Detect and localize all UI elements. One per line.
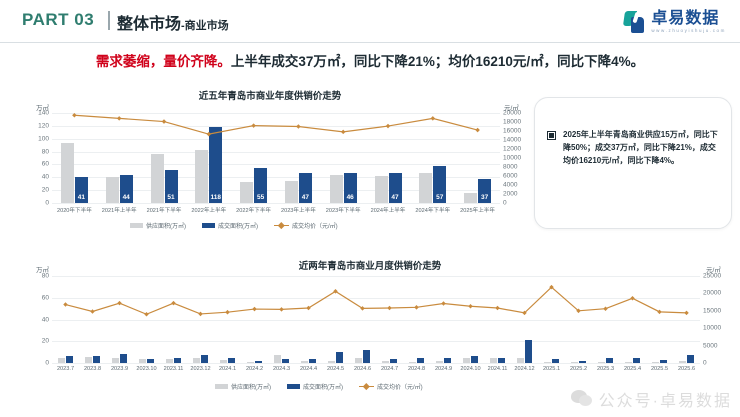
chart-bar: 46 — [344, 173, 357, 203]
bar-value-label: 47 — [302, 194, 309, 201]
x-axis-tick: 2024.4 — [300, 366, 317, 372]
legend-label-supply: 供应面积(万㎡) — [146, 221, 186, 230]
headline-red: 需求萎缩，量价齐降。 — [96, 54, 231, 69]
x-axis-tick: 2025.3 — [597, 366, 614, 372]
x-axis-tick: 2025.4 — [624, 366, 641, 372]
chart-bar — [471, 356, 478, 363]
chart-bar — [174, 358, 181, 363]
chart-bar — [106, 177, 119, 203]
chart-bar — [166, 359, 173, 363]
x-axis-tick: 2025.1 — [543, 366, 560, 372]
chart-bar — [93, 356, 100, 363]
gridline — [52, 320, 700, 321]
chart-bar — [517, 358, 524, 363]
y-axis-tick: 80 — [42, 148, 49, 155]
headline-rest: 上半年成交37万㎡，同比下降21%；均价16210元/㎡，同比下降4%。 — [231, 54, 644, 69]
headline: 需求萎缩，量价齐降。上半年成交37万㎡，同比下降21%；均价16210元/㎡，同… — [0, 50, 740, 70]
watermark: 公众号·卓易数据 — [571, 387, 732, 411]
logo-url: www.zhuoyishuju.com — [651, 29, 726, 34]
watermark-text: 公众号·卓易数据 — [599, 387, 732, 411]
chart-bar — [66, 356, 73, 363]
chart-bar — [274, 355, 281, 363]
legend-label-price: 成交均价（元/㎡) — [292, 221, 338, 230]
chart-bar — [282, 359, 289, 363]
x-axis-tick: 2024.12 — [514, 366, 534, 372]
chart-bar: 41 — [75, 177, 88, 203]
chart-bar — [679, 361, 686, 363]
chart-bar — [409, 362, 416, 363]
chart-bar — [571, 362, 578, 363]
x-axis-tick: 2023年下半年 — [326, 206, 361, 214]
x-axis-tick: 2023.12 — [190, 366, 210, 372]
x-axis-tick: 2024.11 — [488, 366, 508, 372]
chart-bar: 57 — [433, 166, 446, 203]
chart-bar — [419, 173, 432, 203]
x-axis-tick: 2024.1 — [219, 366, 236, 372]
insight-callout-text: 2025年上半年青岛商业供应15万㎡，同比下降50%；成交37万㎡，同比下降21… — [563, 128, 721, 168]
x-axis-tick: 2024.7 — [381, 366, 398, 372]
chart-bar — [193, 358, 200, 363]
x-axis-tick: 2023.10 — [136, 366, 156, 372]
chart-annual-plot: 0204060801001201400200040006000800010000… — [52, 113, 500, 203]
chart-bar — [652, 362, 659, 363]
chart-bar — [139, 359, 146, 363]
bar-value-label: 46 — [347, 194, 354, 201]
x-axis-tick: 2024.3 — [273, 366, 290, 372]
chart-bar — [255, 361, 262, 363]
chart-bar — [444, 358, 451, 363]
y-axis-tick: 100 — [38, 135, 49, 142]
bar-value-label: 47 — [391, 194, 398, 201]
page-title-sub: -商业市场 — [181, 20, 229, 32]
x-axis-tick: 2023.7 — [57, 366, 74, 372]
chart-bar — [464, 193, 477, 203]
chart-monthly-legend: 供应面积(万㎡) 成交面积(万㎡) 成交均价（元/㎡) — [215, 382, 423, 391]
x-axis-tick: 2025.6 — [678, 366, 695, 372]
gridline — [52, 341, 700, 342]
y-axis-right-tick: 20000 — [503, 110, 521, 117]
chart-bar — [330, 175, 343, 203]
chart-bar: 51 — [165, 170, 178, 203]
chart-bar — [61, 143, 74, 203]
chart-bar — [285, 181, 298, 204]
chart-bar — [382, 361, 389, 363]
chart-bar — [328, 361, 335, 363]
y-axis-tick: 60 — [42, 161, 49, 168]
chart-bar — [228, 358, 235, 363]
chart-bar — [112, 358, 119, 363]
chart-bar — [463, 358, 470, 363]
chart-bar: 55 — [254, 168, 267, 203]
chart-monthly: 近两年青岛市商业月度供销价走势 万㎡ 元/㎡ 02040608005000100… — [10, 258, 730, 408]
insight-callout: 2025年上半年青岛商业供应15万㎡，同比下降50%；成交37万㎡，同比下降21… — [534, 97, 732, 229]
x-axis-tick: 2024年下半年 — [415, 206, 450, 214]
gridline — [52, 152, 500, 153]
chart-bar — [390, 359, 397, 363]
page-title: 整体市场-商业市场 — [117, 10, 229, 34]
part-label: PART 03 — [22, 10, 94, 30]
price-line-swatch-icon — [274, 223, 289, 228]
y-axis-right-tick: 10000 — [503, 155, 521, 162]
bar-value-label: 37 — [481, 194, 488, 201]
x-axis-tick: 2021年下半年 — [147, 206, 182, 214]
brand-logo: 卓易数据 www.zhuoyishuju.com — [624, 8, 726, 36]
slide-root: PART 03 整体市场-商业市场 卓易数据 www.zhuoyishuju.c… — [0, 0, 740, 417]
chart-bar — [579, 361, 586, 363]
gridline — [52, 113, 500, 114]
chart-bar — [151, 154, 164, 204]
y-axis-right-tick: 0 — [503, 200, 507, 207]
legend-label-price: 成交均价（元/㎡) — [377, 382, 423, 391]
chart-annual: 近五年青岛市商业年度供销价走势 万㎡ 元/㎡ 02040608010012014… — [10, 88, 530, 238]
y-axis-right-tick: 16000 — [503, 128, 521, 135]
y-axis-right-tick: 6000 — [503, 173, 517, 180]
x-axis-tick: 2025年上半年 — [460, 206, 495, 214]
chart-annual-title: 近五年青岛市商业年度供销价走势 — [10, 88, 530, 102]
chart-bar: 47 — [299, 173, 312, 203]
bar-value-label: 57 — [436, 194, 443, 201]
gridline — [52, 276, 700, 277]
x-axis-tick: 2023.8 — [84, 366, 101, 372]
y-axis-tick: 40 — [42, 316, 49, 323]
legend-label-supply: 供应面积(万㎡) — [231, 382, 271, 391]
chart-bar — [120, 354, 127, 363]
legend-item-deal: 成交面积(万㎡) — [202, 221, 258, 230]
chart-bar — [606, 358, 613, 363]
deal-swatch-icon — [287, 384, 300, 389]
price-line-swatch-icon — [359, 384, 374, 389]
y-axis-right-tick: 12000 — [503, 146, 521, 153]
chart-bar — [417, 358, 424, 363]
chart-bar — [625, 362, 632, 363]
x-axis-tick: 2021年上半年 — [102, 206, 137, 214]
chart-bar — [687, 355, 694, 363]
page-title-main: 整体市场 — [117, 16, 181, 33]
chart-bar — [552, 359, 559, 363]
chart-bar — [147, 359, 154, 363]
x-axis-tick: 2020年下半年 — [57, 206, 92, 214]
chart-bar: 44 — [120, 175, 133, 203]
x-axis-tick: 2022年下半年 — [236, 206, 271, 214]
y-axis-tick: 140 — [38, 110, 49, 117]
chart-bar — [240, 182, 253, 203]
chart-bar — [201, 355, 208, 363]
chart-bar — [375, 176, 388, 203]
supply-swatch-icon — [130, 223, 143, 228]
x-axis-tick: 2022年上半年 — [191, 206, 226, 214]
header-divider — [108, 11, 110, 30]
chart-bar — [195, 150, 208, 203]
chart-bar — [58, 358, 65, 363]
bar-value-label: 44 — [123, 194, 130, 201]
chart-bar — [220, 360, 227, 363]
chart-bar — [525, 340, 532, 363]
y-axis-right-tick: 4000 — [503, 182, 517, 189]
gridline — [52, 298, 700, 299]
y-axis-right-tick: 10000 — [703, 325, 721, 332]
zhuoyi-logo-icon — [624, 10, 646, 34]
gridline — [52, 139, 500, 140]
y-axis-right-tick: 18000 — [503, 119, 521, 126]
chart-bar — [498, 358, 505, 363]
gridline — [52, 126, 500, 127]
chart-bar — [633, 358, 640, 363]
logo-name: 卓易数据 — [651, 11, 726, 27]
header-rule — [0, 42, 740, 43]
y-axis-tick: 80 — [42, 273, 49, 280]
chart-bar — [660, 360, 667, 363]
chart-bar — [301, 361, 308, 363]
chart-annual-legend: 供应面积(万㎡) 成交面积(万㎡) 成交均价（元/㎡) — [130, 221, 338, 230]
legend-item-supply: 供应面积(万㎡) — [215, 382, 271, 391]
y-axis-right-tick: 14000 — [503, 137, 521, 144]
deal-swatch-icon — [202, 223, 215, 228]
chart-bar — [309, 359, 316, 363]
slide-header: PART 03 整体市场-商业市场 卓易数据 www.zhuoyishuju.c… — [0, 0, 740, 44]
legend-item-price: 成交均价（元/㎡) — [359, 382, 423, 391]
x-axis-tick: 2025.2 — [570, 366, 587, 372]
x-axis-tick: 2024.8 — [408, 366, 425, 372]
supply-swatch-icon — [215, 384, 228, 389]
x-axis-tick: 2024.9 — [435, 366, 452, 372]
legend-item-deal: 成交面积(万㎡) — [287, 382, 343, 391]
x-axis-tick: 2024年上半年 — [371, 206, 406, 214]
y-axis-tick: 120 — [38, 122, 49, 129]
y-axis-tick: 0 — [45, 360, 49, 367]
chart-monthly-title: 近两年青岛市商业月度供销价走势 — [10, 258, 730, 272]
bar-value-label: 41 — [78, 194, 85, 201]
y-axis-right-tick: 15000 — [703, 307, 721, 314]
chart-bar — [544, 362, 551, 363]
chart-bar — [247, 362, 254, 363]
chart-bar: 37 — [478, 179, 491, 203]
bar-value-label: 51 — [167, 194, 174, 201]
chart-bar — [363, 350, 370, 363]
y-axis-right-tick: 25000 — [703, 273, 721, 280]
x-axis-tick: 2023年上半年 — [281, 206, 316, 214]
bar-value-label: 55 — [257, 194, 264, 201]
chart-monthly-plot: 02040608005000100001500020000250002023.7… — [52, 276, 700, 363]
legend-label-deal: 成交面积(万㎡) — [218, 221, 258, 230]
y-axis-right-tick: 2000 — [503, 191, 517, 198]
legend-item-price: 成交均价（元/㎡) — [274, 221, 338, 230]
x-axis-tick: 2024.2 — [246, 366, 263, 372]
chart-bar: 47 — [389, 173, 402, 203]
x-axis-tick: 2024.10 — [460, 366, 480, 372]
gridline — [52, 363, 700, 364]
chart-bar — [355, 358, 362, 363]
y-axis-right-tick: 20000 — [703, 290, 721, 297]
y-axis-tick: 20 — [42, 187, 49, 194]
gridline — [52, 203, 500, 204]
chart-bar — [598, 362, 605, 363]
x-axis-tick: 2024.5 — [327, 366, 344, 372]
chart-bar — [436, 361, 443, 363]
legend-item-supply: 供应面积(万㎡) — [130, 221, 186, 230]
gridline — [52, 164, 500, 165]
wechat-icon — [571, 390, 593, 408]
x-axis-tick: 2023.9 — [111, 366, 128, 372]
x-axis-tick: 2023.11 — [164, 366, 184, 372]
y-axis-tick: 0 — [45, 200, 49, 207]
y-axis-tick: 40 — [42, 174, 49, 181]
chart-bar — [85, 357, 92, 363]
square-bullet-icon — [547, 131, 556, 140]
x-axis-tick: 2025.5 — [651, 366, 668, 372]
legend-label-deal: 成交面积(万㎡) — [303, 382, 343, 391]
y-axis-tick: 60 — [42, 294, 49, 301]
bar-value-label: 118 — [211, 194, 222, 201]
y-axis-right-tick: 8000 — [503, 164, 517, 171]
y-axis-tick: 20 — [42, 338, 49, 345]
y-axis-right-tick: 0 — [703, 360, 707, 367]
x-axis-tick: 2024.6 — [354, 366, 371, 372]
y-axis-right-tick: 5000 — [703, 342, 717, 349]
chart-bar: 118 — [209, 127, 222, 203]
chart-bar — [336, 352, 343, 363]
chart-bar — [490, 358, 497, 363]
